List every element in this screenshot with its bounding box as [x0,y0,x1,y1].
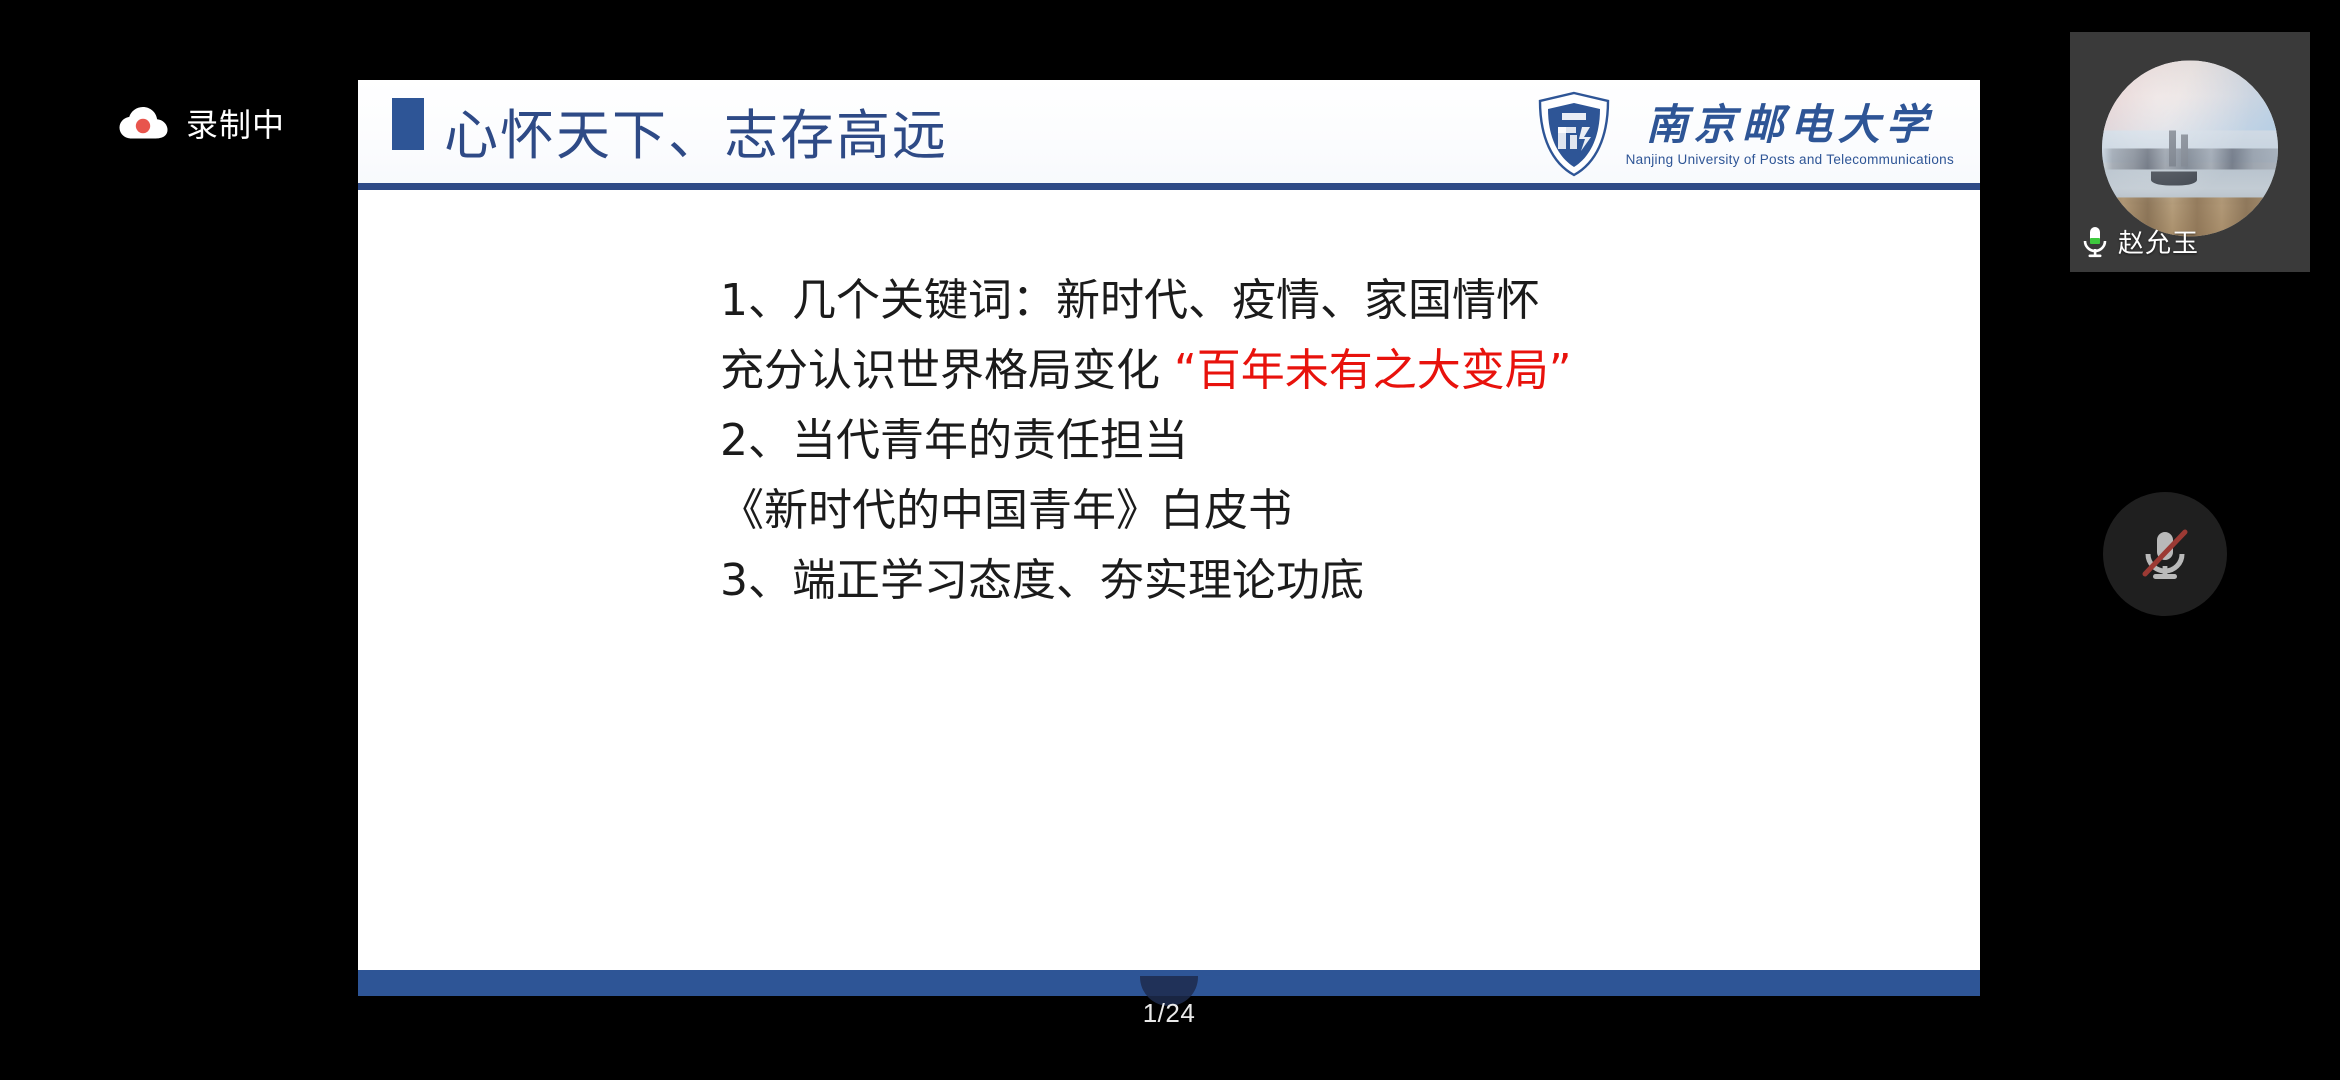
cloud-record-icon [118,105,170,141]
slide-footer-bar [358,970,1980,996]
avatar-gloss [2102,60,2278,236]
slide-line: 3、端正学习态度、夯实理论功底 [720,546,1980,616]
slide-bullet-list: 1、几个关键词：新时代、疫情、家国情怀 充分认识世界格局变化 “百年未有之大变局… [720,266,1980,616]
participant-name: 赵允玉 [2118,223,2199,260]
shared-slide[interactable]: 心怀天下、志存高远 南京邮电大学 Nanjing Univers [358,80,1980,996]
mute-toggle-button[interactable] [2103,492,2227,616]
slide-line: 充分认识世界格局变化 “百年未有之大变局” [720,336,1980,406]
logo-name-en: Nanjing University of Posts and Telecomm… [1626,151,1954,169]
nupt-shield-logo [1536,91,1612,177]
slide-line-text: 2、当代青年的责任担当 [720,415,1188,466]
avatar [2102,60,2278,236]
microphone-muted-icon [2133,522,2197,586]
slide-line: 1、几个关键词：新时代、疫情、家国情怀 [720,266,1980,336]
microphone-icon [2080,225,2110,259]
slide-line-text: 充分认识世界格局变化 [720,345,1174,396]
recording-indicator: 录制中 [118,100,285,146]
header-divider [358,183,1980,190]
meeting-screen: 录制中 心怀天下、志存高远 [0,0,2340,1080]
page-indicator: 1/24 [358,998,1980,1029]
university-logo: 南京邮电大学 Nanjing University of Posts and T… [1536,88,1954,180]
slide-line-highlight: “百年未有之大变局” [1174,345,1572,396]
slide-body: 1、几个关键词：新时代、疫情、家国情怀 充分认识世界格局变化 “百年未有之大变局… [358,190,1980,970]
slide-title: 心怀天下、志存高远 [444,86,948,186]
slide-line-text: 1、几个关键词：新时代、疫情、家国情怀 [720,275,1540,326]
logo-wordmark: 南京邮电大学 Nanjing University of Posts and T… [1626,99,1954,169]
logo-name-cn: 南京邮电大学 [1646,99,1934,151]
participant-video-tile[interactable]: 赵允玉 [2070,32,2310,272]
title-accent-bar [392,98,424,150]
slide-line-text: 3、端正学习态度、夯实理论功底 [720,555,1364,606]
participant-nameplate: 赵允玉 [2080,223,2199,260]
recording-label: 录制中 [186,100,285,146]
slide-line: 2、当代青年的责任担当 [720,406,1980,476]
slide-header: 心怀天下、志存高远 南京邮电大学 Nanjing Univers [358,80,1980,190]
slide-line-text: 《新时代的中国青年》白皮书 [720,485,1292,536]
slide-line: 《新时代的中国青年》白皮书 [720,476,1980,546]
